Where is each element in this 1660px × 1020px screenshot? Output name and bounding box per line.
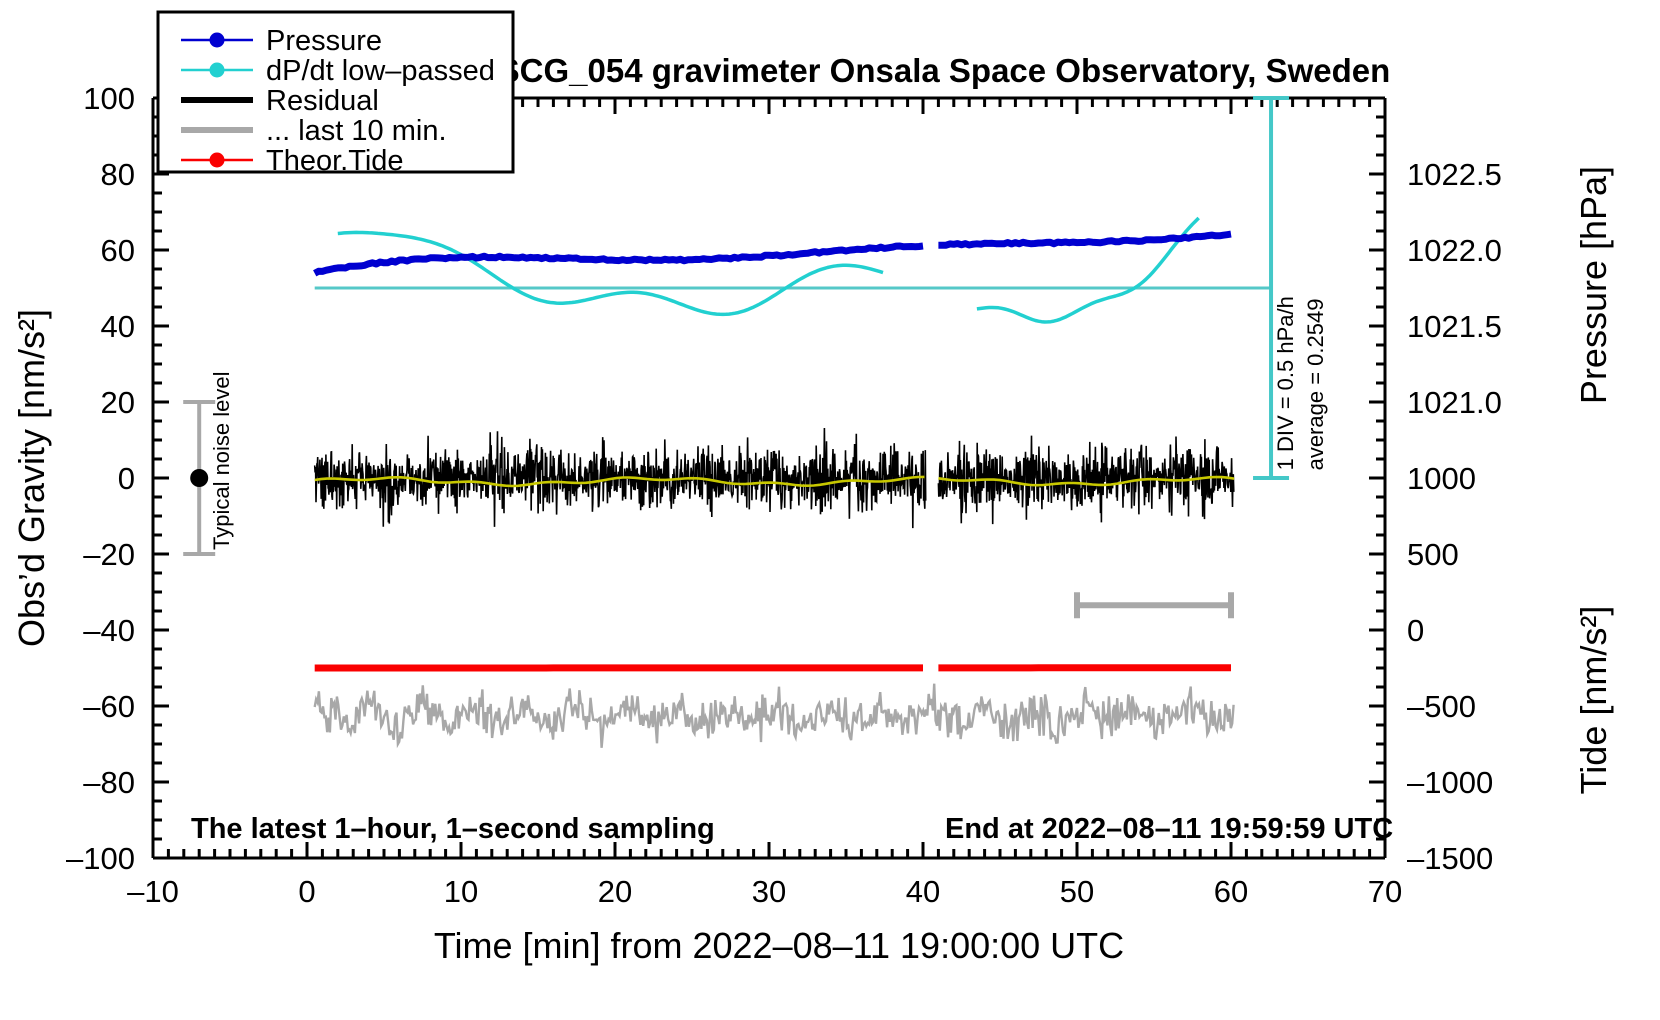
- x-tick-label: 30: [752, 874, 786, 909]
- x-tick-label: 20: [598, 874, 632, 909]
- tide-tick-label: 1000: [1407, 461, 1476, 496]
- x-tick-label: 60: [1214, 874, 1248, 909]
- tide-axis-title: Tide [nm/s²]: [1573, 606, 1614, 795]
- x-tick-label: 50: [1060, 874, 1094, 909]
- tide-tick-label: –1000: [1407, 765, 1493, 800]
- legend-item-label: Theor.Tide: [266, 145, 404, 177]
- legend-swatch-marker: [210, 153, 225, 168]
- scale-division-label: 1 DIV = 0.5 hPa/h: [1273, 296, 1298, 470]
- x-tick-label: 70: [1368, 874, 1402, 909]
- y-tick-label: 80: [101, 157, 135, 192]
- chart-page: –10010203040506070 –100–80–60–40–2002040…: [0, 0, 1660, 1020]
- y-tick-label: 60: [101, 233, 135, 268]
- tide-tick-label: 500: [1407, 537, 1459, 572]
- legend-item-label: ... last 10 min.: [266, 115, 447, 147]
- y-tick-label: 20: [101, 385, 135, 420]
- legend-item-label: Pressure: [266, 25, 382, 57]
- tide-tick-label: –1500: [1407, 841, 1493, 876]
- y-tick-label: –20: [83, 537, 135, 572]
- y-tick-label: –80: [83, 765, 135, 800]
- x-tick-label: –10: [127, 874, 179, 909]
- y-axis-title: Obs’d Gravity [nm/s²]: [11, 309, 52, 647]
- y-tick-label: –100: [66, 841, 135, 876]
- tide-tick-label: –500: [1407, 689, 1476, 724]
- legend-swatch-marker: [210, 63, 225, 78]
- y-tick-label: 0: [118, 461, 135, 496]
- typical-noise-level-label: Typical noise level: [209, 371, 234, 550]
- x-axis-title: Time [min] from 2022–08–11 19:00:00 UTC: [434, 925, 1124, 966]
- pressure-tick-label: 1022.5: [1407, 157, 1502, 192]
- tide-tick-label: 0: [1407, 613, 1424, 648]
- y-tick-label: –60: [83, 689, 135, 724]
- legend-item-label: Residual: [266, 85, 379, 117]
- legend-swatch-marker: [210, 33, 225, 48]
- pressure-tick-label: 1022.0: [1407, 233, 1502, 268]
- y-tick-label: –40: [83, 613, 135, 648]
- footer-right-note: End at 2022–08–11 19:59:59 UTC: [945, 813, 1393, 845]
- pressure-tick-label: 1021.0: [1407, 385, 1502, 420]
- y-tick-label: 40: [101, 309, 135, 344]
- legend[interactable]: PressuredP/dt low–passedResidual... last…: [158, 12, 513, 177]
- gravimeter-chart: –10010203040506070 –100–80–60–40–2002040…: [0, 0, 1660, 1020]
- x-tick-label: 0: [298, 874, 315, 909]
- y-tick-label: 100: [83, 81, 135, 116]
- pressure-tick-label: 1021.5: [1407, 309, 1502, 344]
- x-tick-label: 10: [444, 874, 478, 909]
- scale-average-label: average = 0.2549: [1303, 299, 1328, 471]
- footer-left-note: The latest 1–hour, 1–second sampling: [191, 813, 715, 845]
- x-tick-label: 40: [906, 874, 940, 909]
- chart-title: SCG_054 gravimeter Onsala Space Observat…: [498, 52, 1391, 89]
- pressure-axis-title: Pressure [hPa]: [1573, 166, 1614, 404]
- legend-item-label: dP/dt low–passed: [266, 55, 495, 87]
